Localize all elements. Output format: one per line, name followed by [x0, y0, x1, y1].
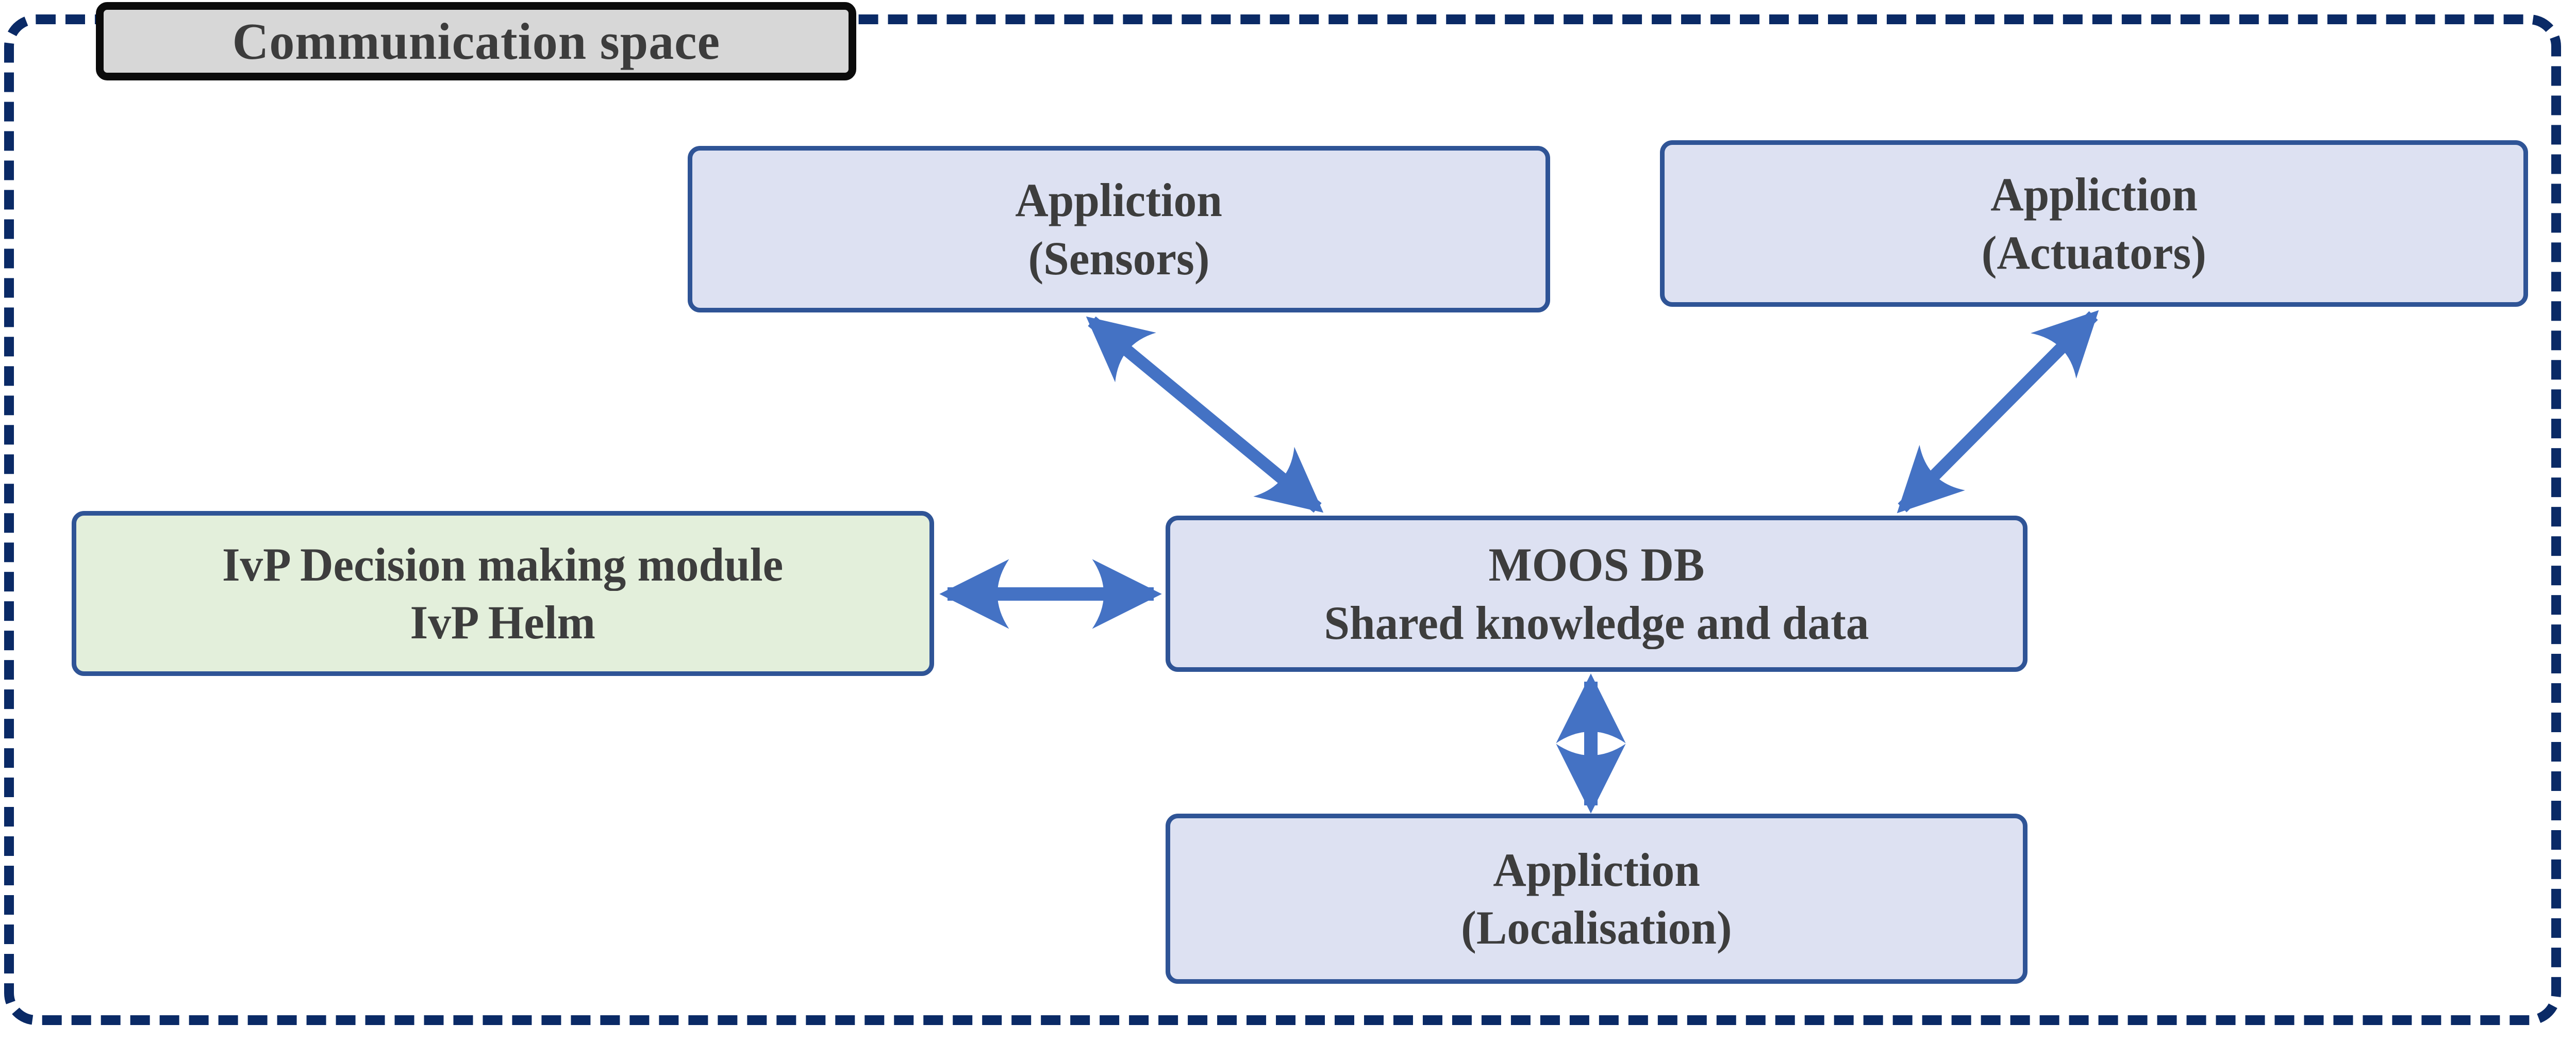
node-sensors-line2: (Sensors): [1028, 229, 1209, 287]
node-actuators-line1: Appliction: [1990, 166, 2198, 223]
arrow-actuators-moosdb: [1902, 316, 2093, 508]
communication-space-label-text: Communication space: [232, 15, 720, 68]
node-ivp-line1: IvP Decision making module: [222, 536, 783, 593]
node-appliction-sensors[interactable]: Appliction (Sensors): [688, 146, 1550, 312]
node-moosdb-line2: Shared knowledge and data: [1324, 594, 1869, 652]
node-localisation-line2: (Localisation): [1461, 899, 1732, 956]
communication-space-label: Communication space: [96, 2, 856, 80]
node-ivp-line2: IvP Helm: [410, 593, 595, 651]
node-sensors-line1: Appliction: [1016, 171, 1223, 229]
node-appliction-localisation[interactable]: Appliction (Localisation): [1166, 814, 2027, 984]
node-moosdb-line1: MOOS DB: [1489, 536, 1705, 593]
node-actuators-line2: (Actuators): [1982, 224, 2206, 282]
node-ivp-decision-making-module[interactable]: IvP Decision making module IvP Helm: [72, 511, 934, 676]
node-appliction-actuators[interactable]: Appliction (Actuators): [1660, 140, 2528, 307]
node-localisation-line1: Appliction: [1493, 841, 1700, 899]
diagram-canvas: Appliction (Sensors) Appliction (Actuato…: [0, 0, 2576, 1040]
node-moos-db[interactable]: MOOS DB Shared knowledge and data: [1166, 516, 2027, 672]
arrow-sensors-moosdb: [1092, 321, 1318, 508]
